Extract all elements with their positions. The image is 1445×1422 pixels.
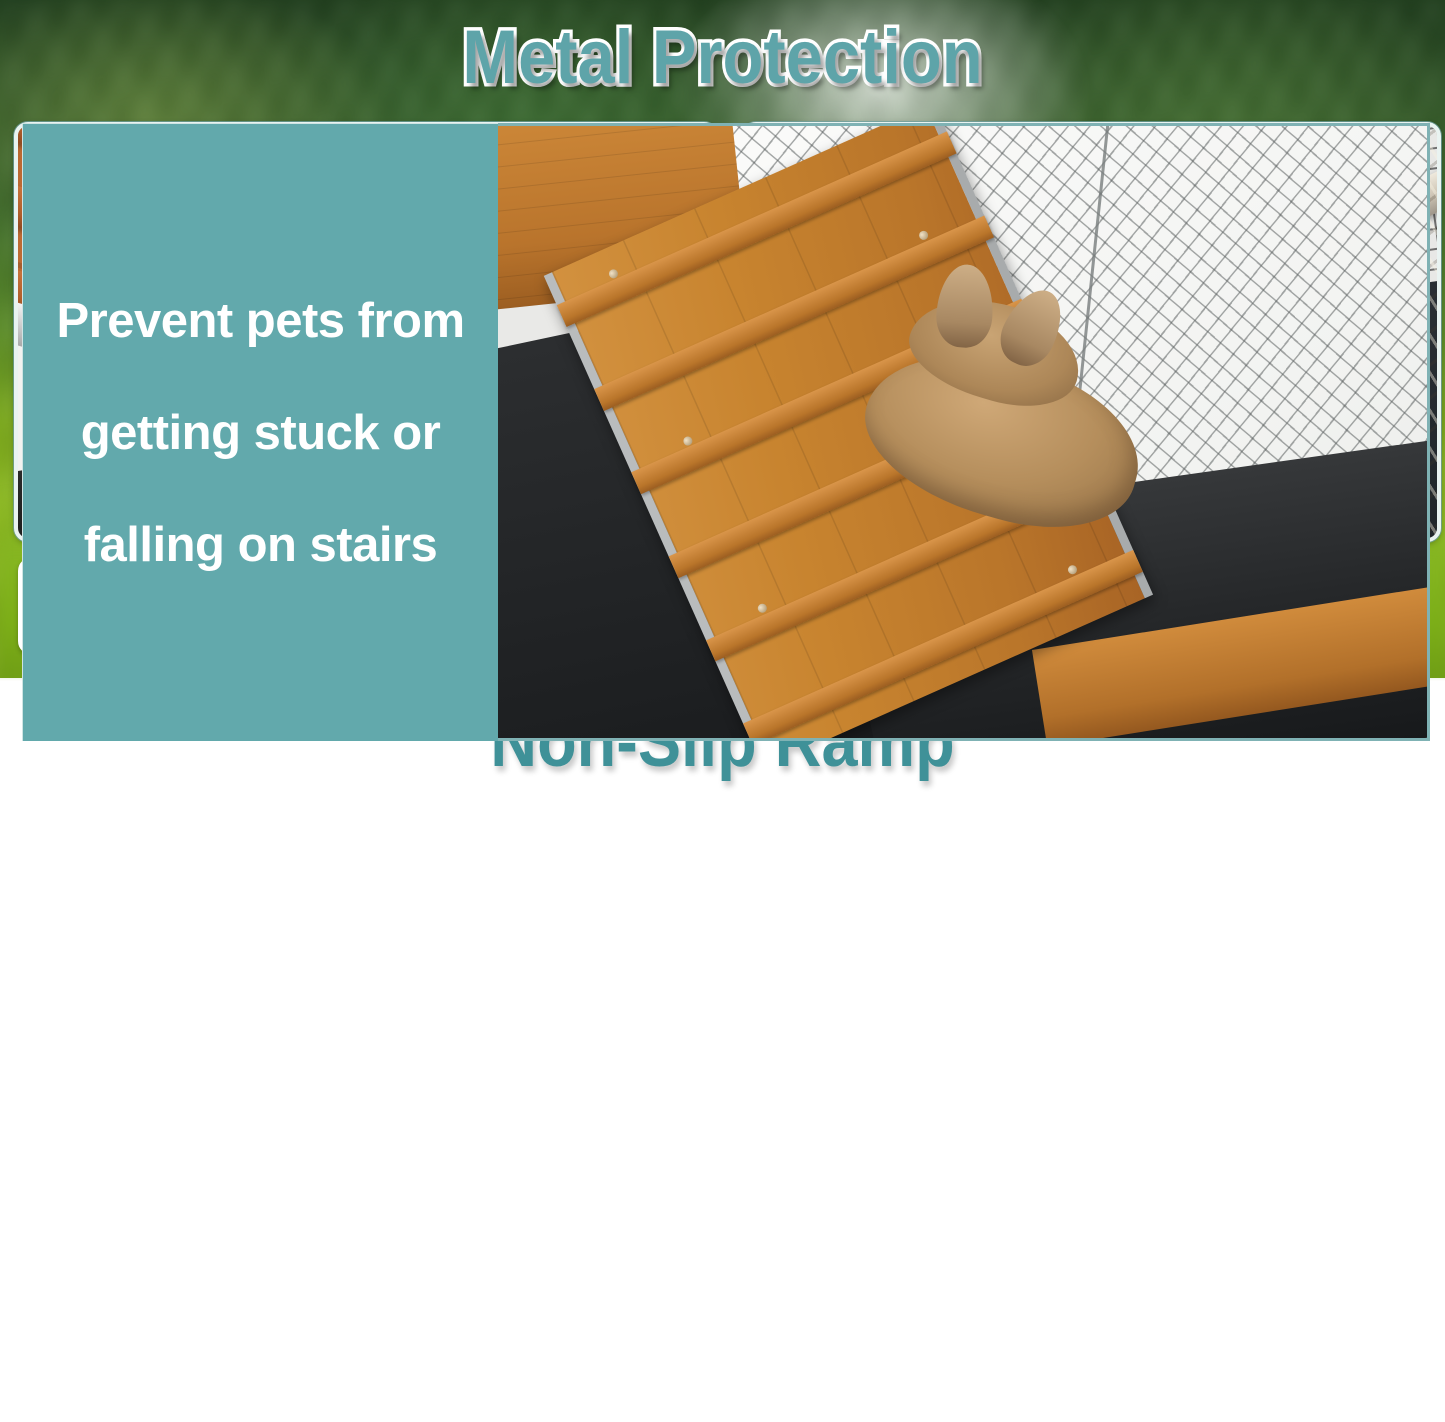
benefit-line-3: falling on stairs	[84, 517, 438, 573]
page-title-metal-protection: Metal Protection	[87, 8, 1359, 108]
product-feature-image: Metal Protection	[0, 0, 1445, 1422]
hutch-scene	[498, 126, 1427, 738]
benefit-line-1: Prevent pets from	[56, 293, 464, 349]
section-non-slip-ramp	[0, 681, 1445, 1422]
non-slip-content-row: Prevent pets from getting stuck or falli…	[22, 123, 1430, 741]
non-slip-text-panel: Prevent pets from getting stuck or falli…	[22, 123, 498, 741]
photo-rabbit-on-ramp	[498, 123, 1430, 741]
benefit-line-2: getting stuck or	[81, 405, 441, 461]
